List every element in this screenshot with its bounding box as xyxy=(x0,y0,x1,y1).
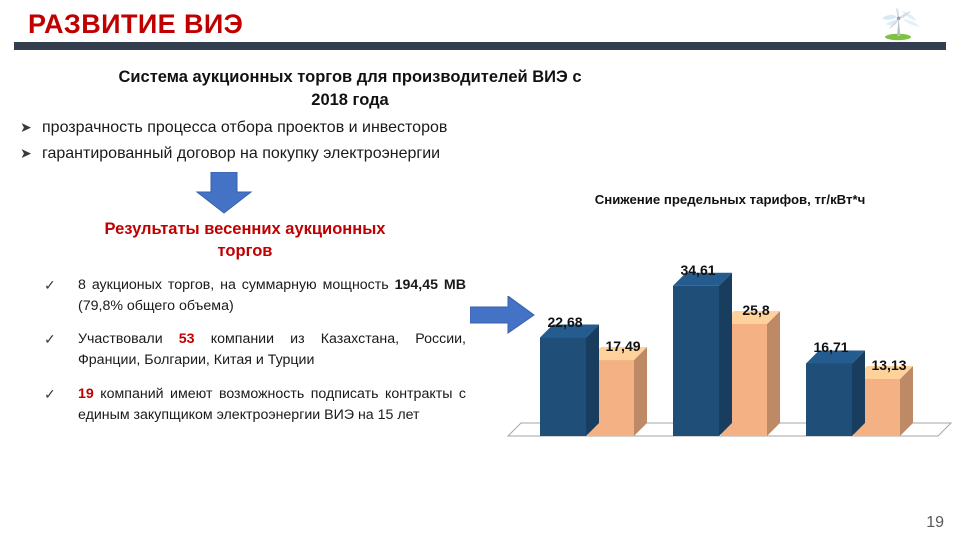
list-item: ✓ 8 аукционых торгов, на суммарную мощно… xyxy=(36,275,466,316)
text-run: 53 xyxy=(179,331,195,347)
intro-bullet-2: ➤ гарантированный договор на покупку эле… xyxy=(20,145,440,163)
intro-bullet-2-label: гарантированный договор на покупку элект… xyxy=(42,145,440,163)
subtitle-line-2: 2018 года xyxy=(40,89,660,112)
chart-bar xyxy=(540,325,599,436)
chart-data-label: 34,61 xyxy=(680,262,715,278)
chart-bar xyxy=(806,350,865,436)
list-item-text: 8 аукционых торгов, на суммарную мощност… xyxy=(78,277,466,314)
list-item-text: 19 компаний имеют возможность подписать … xyxy=(78,386,466,423)
check-icon: ✓ xyxy=(44,329,56,349)
chart-plot-area xyxy=(500,214,960,459)
text-run: 19 xyxy=(78,386,94,402)
chart-data-label: 25,8 xyxy=(742,302,769,318)
page-title: РАЗВИТИЕ ВИЭ xyxy=(28,9,243,40)
header-divider xyxy=(14,42,946,50)
chart-bar xyxy=(673,273,732,436)
list-item: ✓ Участвовали 53 компании из Казахстана,… xyxy=(36,329,466,370)
list-item-text: Участвовали 53 компании из Казахстана, Р… xyxy=(78,331,466,368)
chart-data-label: 13,13 xyxy=(871,357,906,373)
results-heading-line-2: торгов xyxy=(35,240,455,262)
chart-data-label: 17,49 xyxy=(605,338,640,354)
results-heading: Результаты весенних аукционных торгов xyxy=(35,218,455,262)
chart-data-label: 22,68 xyxy=(547,314,582,330)
text-run: Участвовали xyxy=(78,331,179,347)
check-icon: ✓ xyxy=(44,384,56,404)
text-run: (79,8% общего объема) xyxy=(78,298,234,314)
text-run: компаний имеют возможность подписать кон… xyxy=(78,386,466,423)
chart-data-label: 16,71 xyxy=(813,339,848,355)
results-list: ✓ 8 аукционых торгов, на суммарную мощно… xyxy=(36,275,466,438)
down-arrow-icon xyxy=(191,172,257,214)
intro-bullet-1: ➤ прозрачность процесса отбора проектов … xyxy=(20,119,447,137)
intro-bullet-1-label: прозрачность процесса отбора проектов и … xyxy=(42,119,447,137)
check-icon: ✓ xyxy=(44,275,56,295)
text-run: 194,45 МВ xyxy=(395,277,466,293)
wind-turbine-logo xyxy=(862,2,930,42)
arrow-bullet-icon: ➤ xyxy=(20,119,42,136)
slide: РАЗВИТИЕ ВИЭ Система аукционных торгов д… xyxy=(0,0,960,540)
page-number: 19 xyxy=(926,514,944,532)
list-item: ✓ 19 компаний имеют возможность подписат… xyxy=(36,384,466,425)
subtitle-line-1: Система аукционных торгов для производит… xyxy=(40,66,660,89)
results-heading-line-1: Результаты весенних аукционных xyxy=(35,218,455,240)
tariff-reduction-chart: Снижение предельных тарифов, тг/кВт*ч ВЭ… xyxy=(500,192,960,502)
arrow-bullet-icon: ➤ xyxy=(20,145,42,162)
section-subtitle: Система аукционных торгов для производит… xyxy=(40,66,660,112)
chart-title: Снижение предельных тарифов, тг/кВт*ч xyxy=(500,192,960,207)
text-run: 8 аукционых торгов, на суммарную мощност… xyxy=(78,277,395,293)
